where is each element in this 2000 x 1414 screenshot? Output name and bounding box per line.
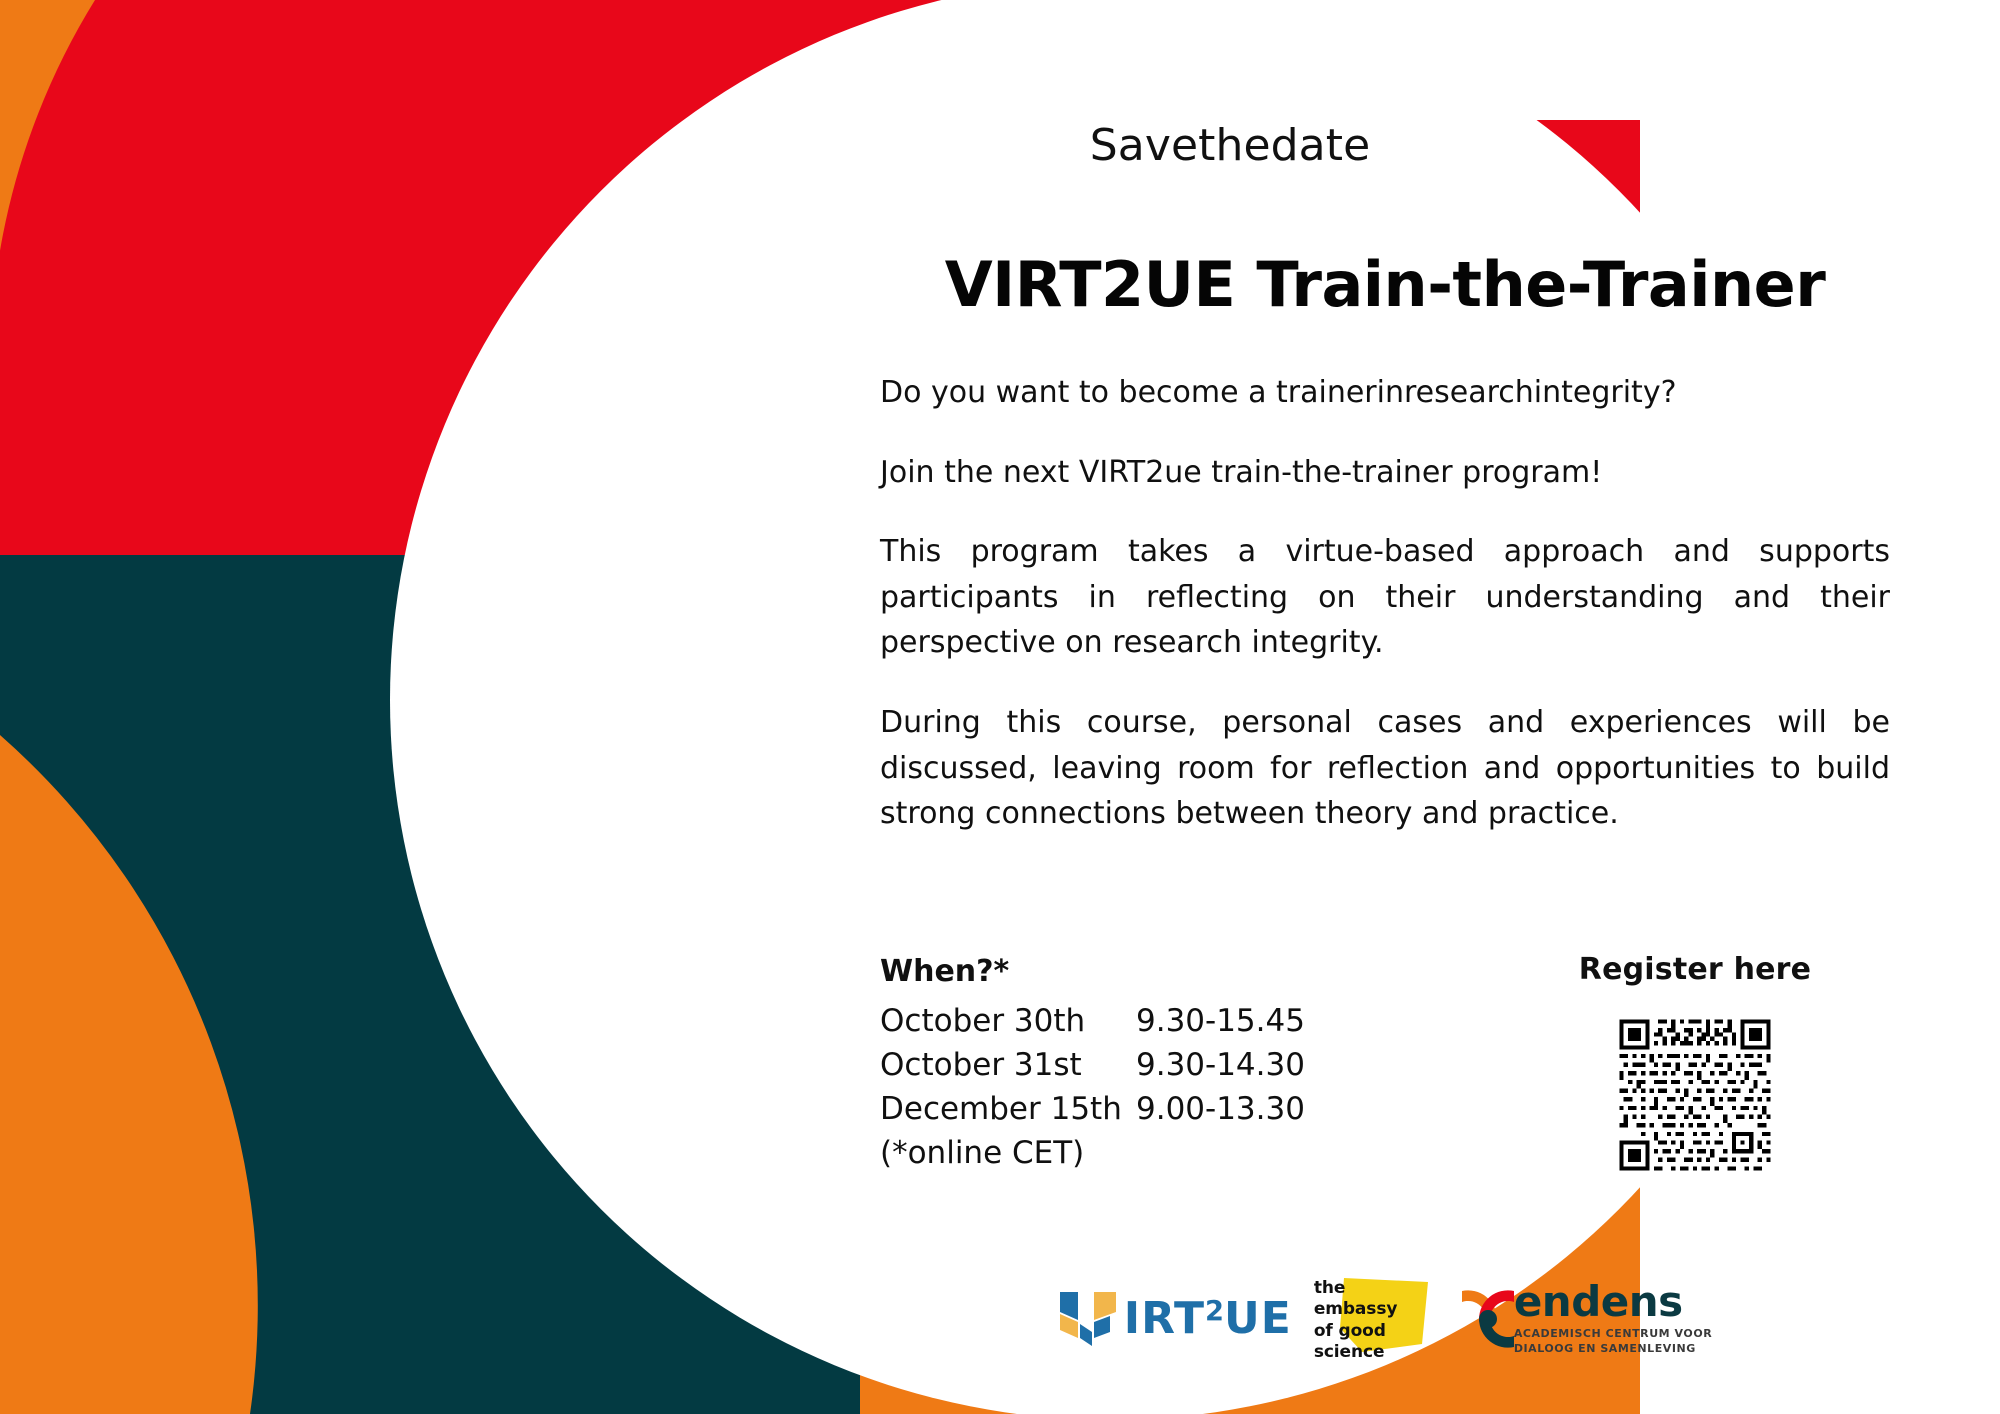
virt2ue-v-mark-icon [1058, 1290, 1120, 1348]
xendens-subtitle-line-1: ACADEMISCH CENTRUM VOOR [1514, 1327, 1712, 1342]
xendens-subtitle-line-2: DIALOOG EN SAMENLEVING [1514, 1342, 1712, 1357]
when-heading: When?* [880, 952, 1350, 993]
when-section: When?* October 30th 9.30-15.45 October 3… [880, 952, 1350, 1175]
xendens-wordmark: endens [1514, 1281, 1712, 1323]
course-description: During this course, personal cases and e… [880, 700, 1890, 837]
schedule-date: October 30th [880, 999, 1136, 1043]
schedule-time: 9.30-14.30 [1136, 1043, 1350, 1087]
xendens-text-block: endens ACADEMISCH CENTRUM VOOR DIALOOG E… [1514, 1281, 1712, 1356]
schedule-time: 9.30-15.45 [1136, 999, 1350, 1043]
details-row: When?* October 30th 9.30-15.45 October 3… [880, 952, 1890, 1179]
invitation-line: Join the next VIRT2ue train-the-trainer … [880, 450, 1890, 496]
embassy-line-1: the [1314, 1278, 1398, 1299]
save-the-date-kicker: Savethedate [880, 122, 1580, 170]
virt2ue-wordmark-sup: 2 [1205, 1296, 1224, 1327]
schedule-row: October 30th 9.30-15.45 [880, 999, 1350, 1043]
virt2ue-wordmark-post: UE [1224, 1293, 1292, 1344]
intro-question: Do you want to become a trainerinresearc… [880, 370, 1890, 416]
page-title: VIRT2UE Train-the-Trainer [880, 252, 1890, 319]
body-copy: Do you want to become a trainerinresearc… [880, 370, 1890, 837]
register-heading: Register here [1530, 952, 1860, 987]
poster: Savethedate VIRT2UE Train-the-Trainer Do… [0, 0, 2000, 1414]
embassy-of-good-science-logo: the embassy of good science [1310, 1272, 1438, 1366]
embassy-line-2: embassy [1314, 1299, 1398, 1320]
embassy-line-3: of good [1314, 1321, 1398, 1342]
xendens-logo: endens ACADEMISCH CENTRUM VOOR DIALOOG E… [1456, 1281, 1712, 1356]
virt2ue-wordmark-pre: IRT [1124, 1293, 1205, 1344]
timezone-note: (*online CET) [880, 1131, 1350, 1175]
schedule-time: 9.00-13.30 [1136, 1087, 1350, 1131]
schedule-row: December 15th 9.00-13.30 [880, 1087, 1350, 1131]
embassy-line-4: science [1314, 1342, 1398, 1363]
virt2ue-wordmark: IRT2UE [1124, 1297, 1292, 1341]
schedule-date: December 15th [880, 1087, 1136, 1131]
program-description: This program takes a virtue-based approa… [880, 529, 1890, 666]
virt2ue-logo: IRT2UE [1058, 1290, 1292, 1348]
content-column: Savethedate VIRT2UE Train-the-Trainer Do… [880, 0, 1900, 1414]
logo-strip: IRT2UE the embassy of good science [880, 1272, 1890, 1366]
qr-code-container[interactable] [1615, 1015, 1775, 1175]
schedule-row: October 31st 9.30-14.30 [880, 1043, 1350, 1087]
qr-code-icon[interactable] [1615, 1015, 1775, 1175]
xendens-subtitle: ACADEMISCH CENTRUM VOOR DIALOOG EN SAMEN… [1514, 1327, 1712, 1356]
schedule-date: October 31st [880, 1043, 1136, 1087]
register-section: Register here [1530, 952, 1890, 1179]
embassy-wordmark: the embassy of good science [1314, 1278, 1398, 1364]
xendens-x-mark-icon [1456, 1287, 1520, 1351]
